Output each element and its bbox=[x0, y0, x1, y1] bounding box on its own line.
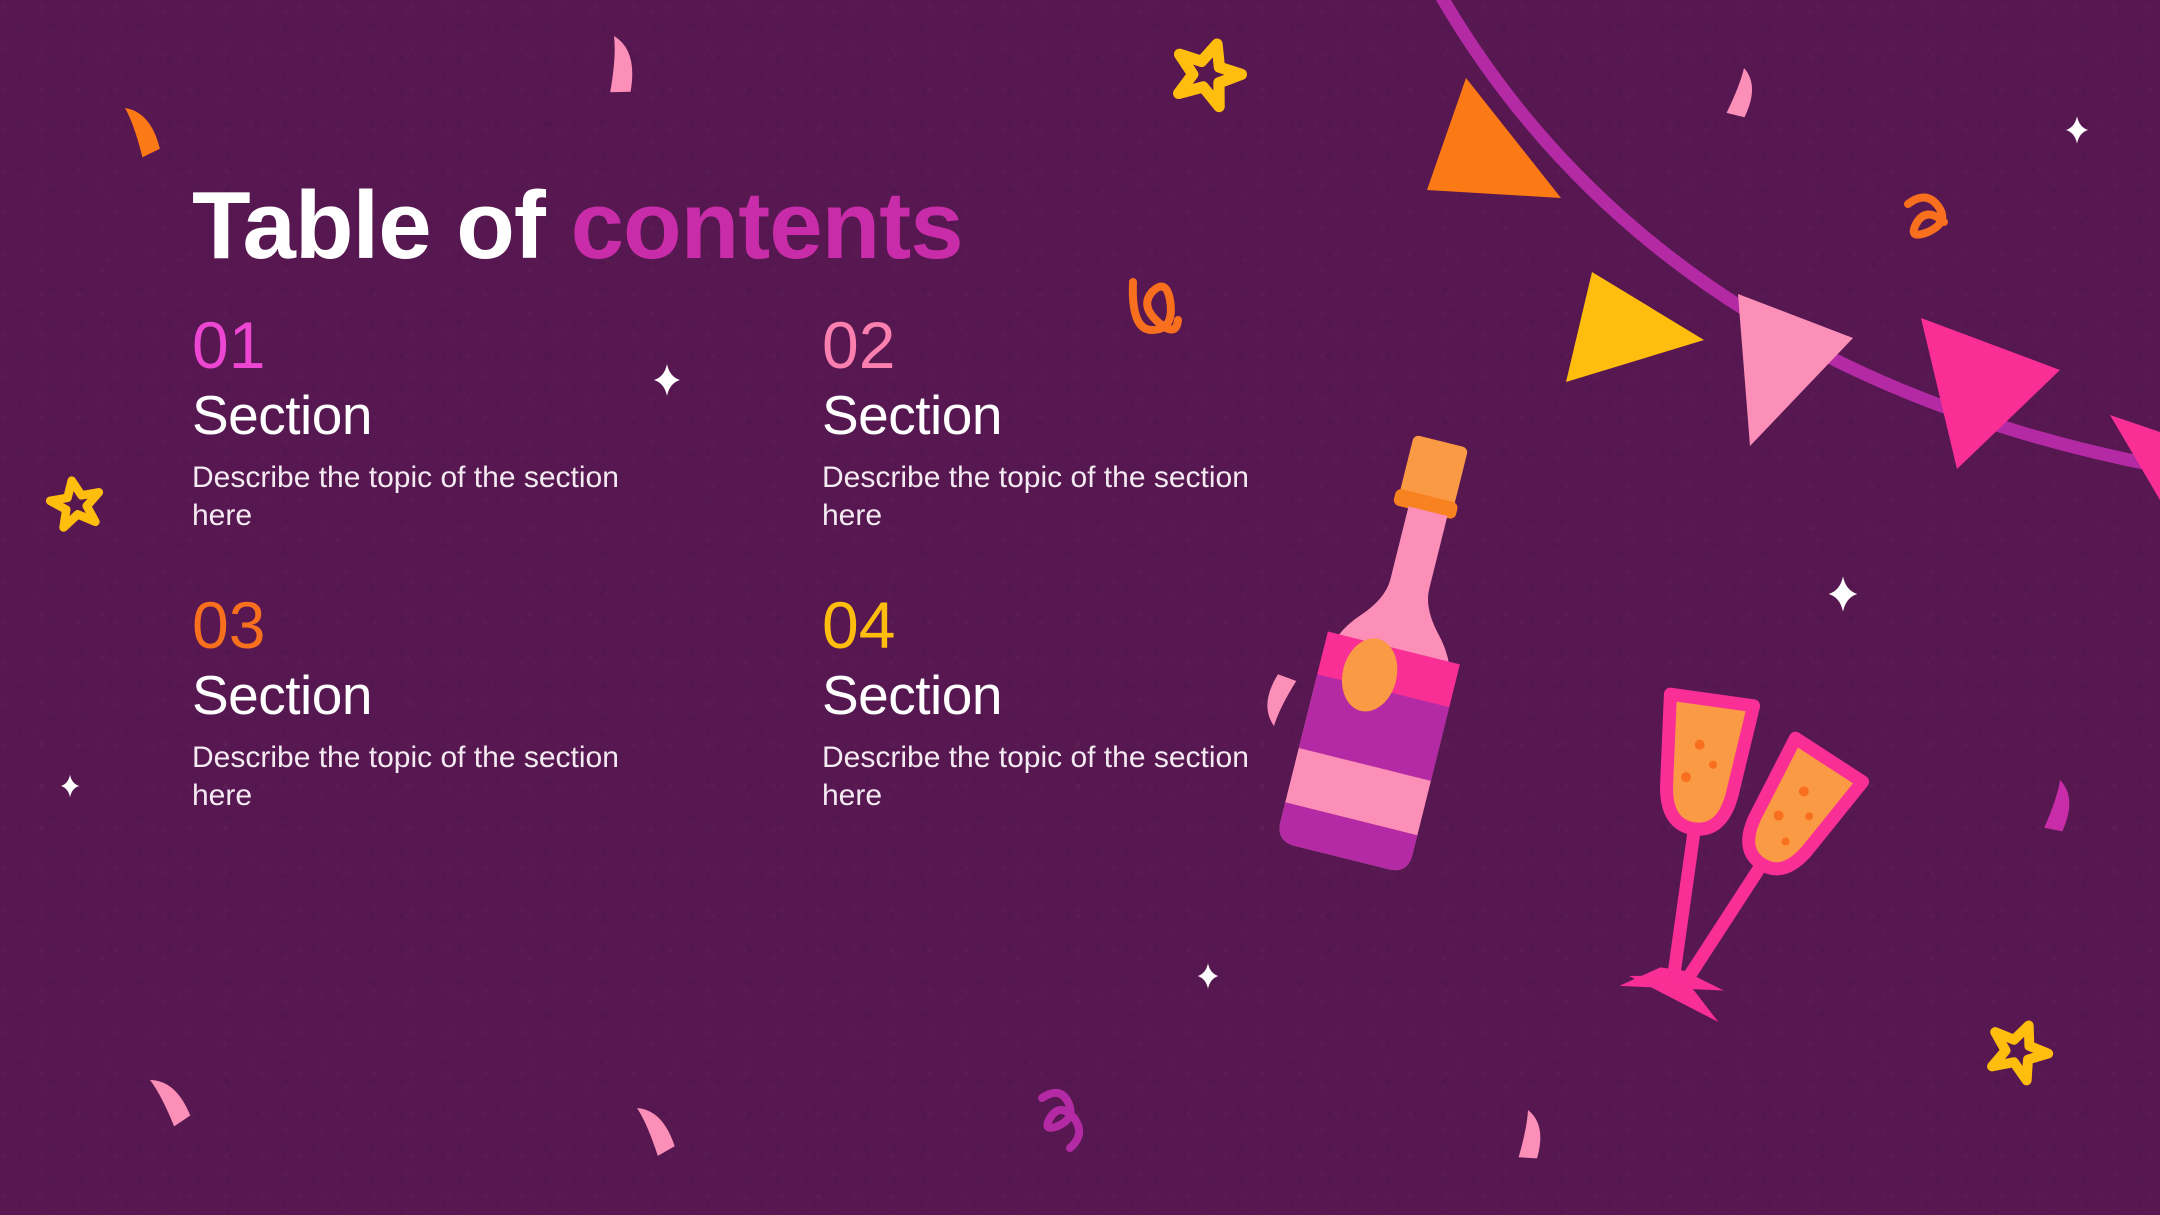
toc-number-03: 03 bbox=[192, 592, 822, 658]
toc-heading-01: Section bbox=[192, 386, 822, 445]
toc-heading-02: Section bbox=[822, 386, 1372, 445]
toc-number-04: 04 bbox=[822, 592, 1372, 658]
toc-item-03[interactable]: 03 Section Describe the topic of the sec… bbox=[192, 592, 822, 872]
toc-item-02[interactable]: 02 Section Describe the topic of the sec… bbox=[822, 312, 1372, 592]
slide-canvas: Table of contents 01 Section Describe th… bbox=[0, 0, 2160, 1215]
toc-description-02: Describe the topic of the section here bbox=[822, 459, 1292, 535]
page-title-part-1: Table of bbox=[192, 172, 571, 279]
slide-content: Table of contents 01 Section Describe th… bbox=[0, 0, 2160, 1215]
toc-description-01: Describe the topic of the section here bbox=[192, 459, 662, 535]
toc-number-02: 02 bbox=[822, 312, 1372, 378]
table-of-contents-grid: 01 Section Describe the topic of the sec… bbox=[192, 312, 1372, 872]
toc-description-03: Describe the topic of the section here bbox=[192, 739, 662, 815]
page-title: Table of contents bbox=[192, 176, 963, 277]
toc-item-01[interactable]: 01 Section Describe the topic of the sec… bbox=[192, 312, 822, 592]
page-title-part-2: contents bbox=[571, 172, 963, 279]
toc-heading-04: Section bbox=[822, 666, 1372, 725]
toc-item-04[interactable]: 04 Section Describe the topic of the sec… bbox=[822, 592, 1372, 872]
toc-description-04: Describe the topic of the section here bbox=[822, 739, 1292, 815]
toc-number-01: 01 bbox=[192, 312, 822, 378]
toc-heading-03: Section bbox=[192, 666, 822, 725]
